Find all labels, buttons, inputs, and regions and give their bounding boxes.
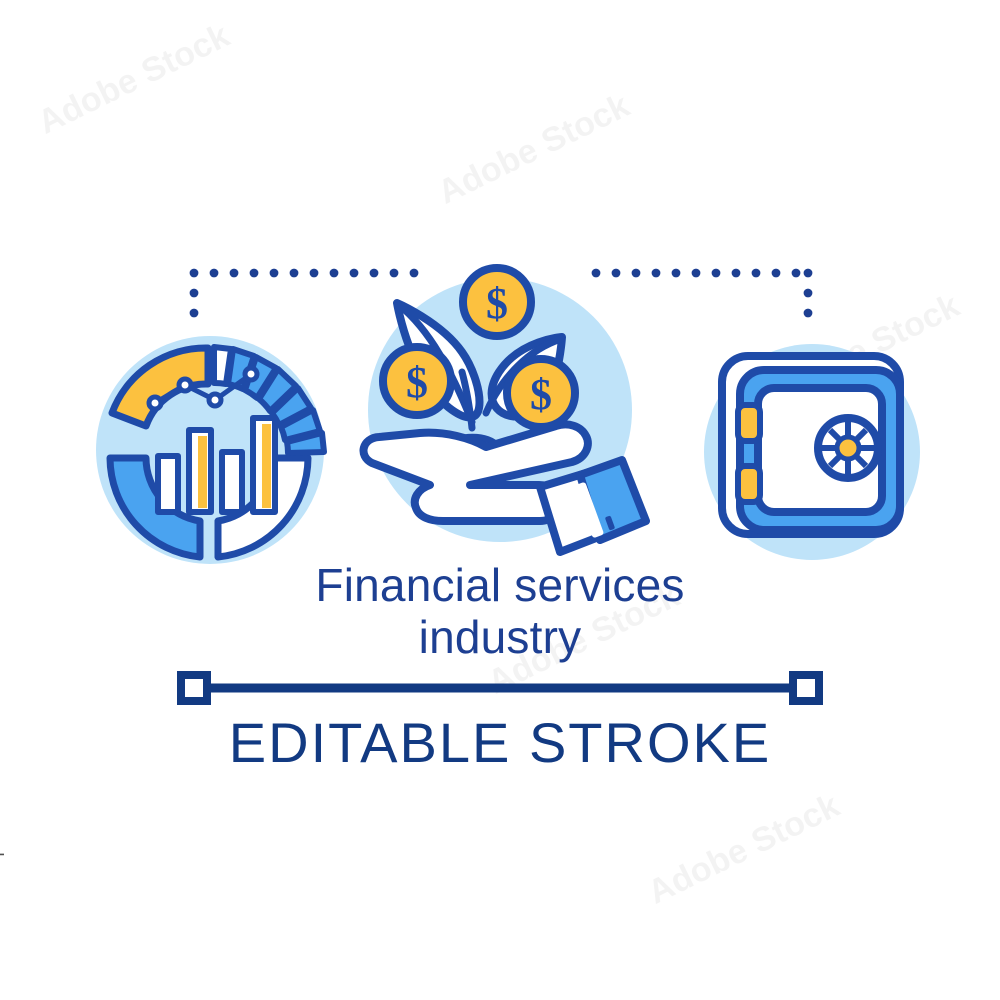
ruler-handle-right[interactable] (793, 675, 819, 701)
editable-stroke-ruler (181, 675, 819, 701)
stock-watermark: Adobe Stock | #285714549 (0, 729, 6, 982)
editable-stroke-label: EDITABLE STROKE (229, 711, 771, 774)
bar-3 (222, 452, 242, 512)
hand-money-plant-icon: $ $ $ (364, 268, 646, 552)
illustration-canvas: Adobe Stock Adobe Stock Adobe Stock Adob… (0, 0, 1000, 1000)
bar-1 (158, 456, 178, 512)
svg-text:$: $ (406, 358, 428, 407)
coin-right: $ (507, 359, 575, 427)
svg-text:$: $ (530, 370, 552, 419)
title-line-2: industry (0, 612, 1000, 664)
analytics-chart-icon (96, 336, 324, 564)
ruler-handle-left[interactable] (181, 675, 207, 701)
title-line-1: Financial services (0, 560, 1000, 612)
concept-illustration: $ $ $ (0, 0, 1000, 1000)
latch-bolt-upper (738, 405, 760, 441)
coin-top: $ (463, 268, 531, 336)
svg-text:$: $ (486, 279, 508, 328)
coin-left: $ (383, 347, 451, 415)
latch-bolt-lower (738, 466, 760, 502)
combination-dial (818, 418, 878, 478)
safe-vault-icon (704, 344, 920, 560)
concept-title: Financial services industry (0, 560, 1000, 663)
editable-stroke-caption: EDITABLE STROKE (0, 710, 1000, 775)
